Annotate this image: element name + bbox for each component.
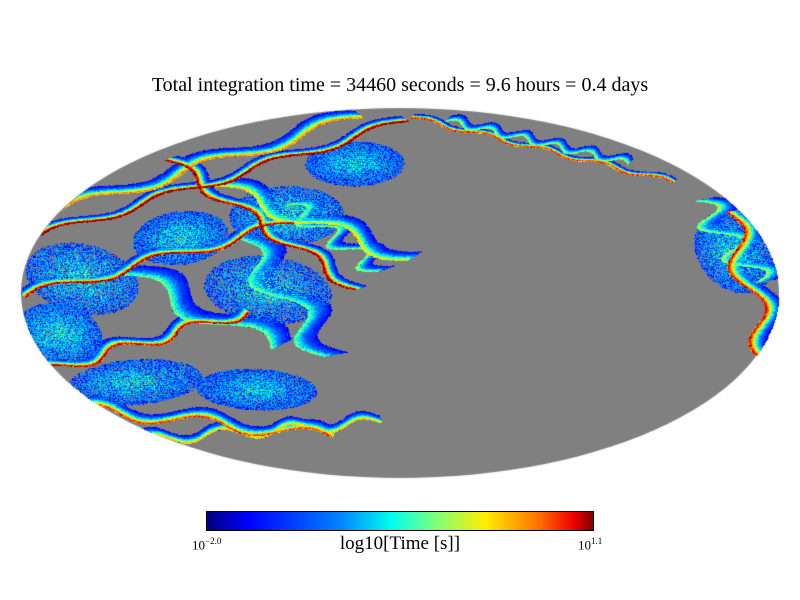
colorbar-tick-max-exponent: 1.1 bbox=[591, 536, 602, 546]
colorbar-tick-max: 101.1 bbox=[578, 536, 602, 553]
page-title: Total integration time = 34460 seconds =… bbox=[0, 74, 800, 97]
colorbar-tick-max-mantissa: 10 bbox=[578, 537, 591, 552]
colorbar-tick-min: 10−2.0 bbox=[192, 536, 221, 553]
mollweide-sky-map bbox=[0, 96, 800, 492]
colorbar-tick-min-mantissa: 10 bbox=[192, 537, 205, 552]
skymap-figure: Total integration time = 34460 seconds =… bbox=[0, 0, 800, 600]
colorbar bbox=[206, 511, 594, 531]
colorbar-gradient bbox=[206, 511, 594, 531]
colorbar-label: log10[Time [s]] bbox=[206, 533, 594, 555]
colorbar-tick-min-exponent: −2.0 bbox=[205, 536, 221, 546]
